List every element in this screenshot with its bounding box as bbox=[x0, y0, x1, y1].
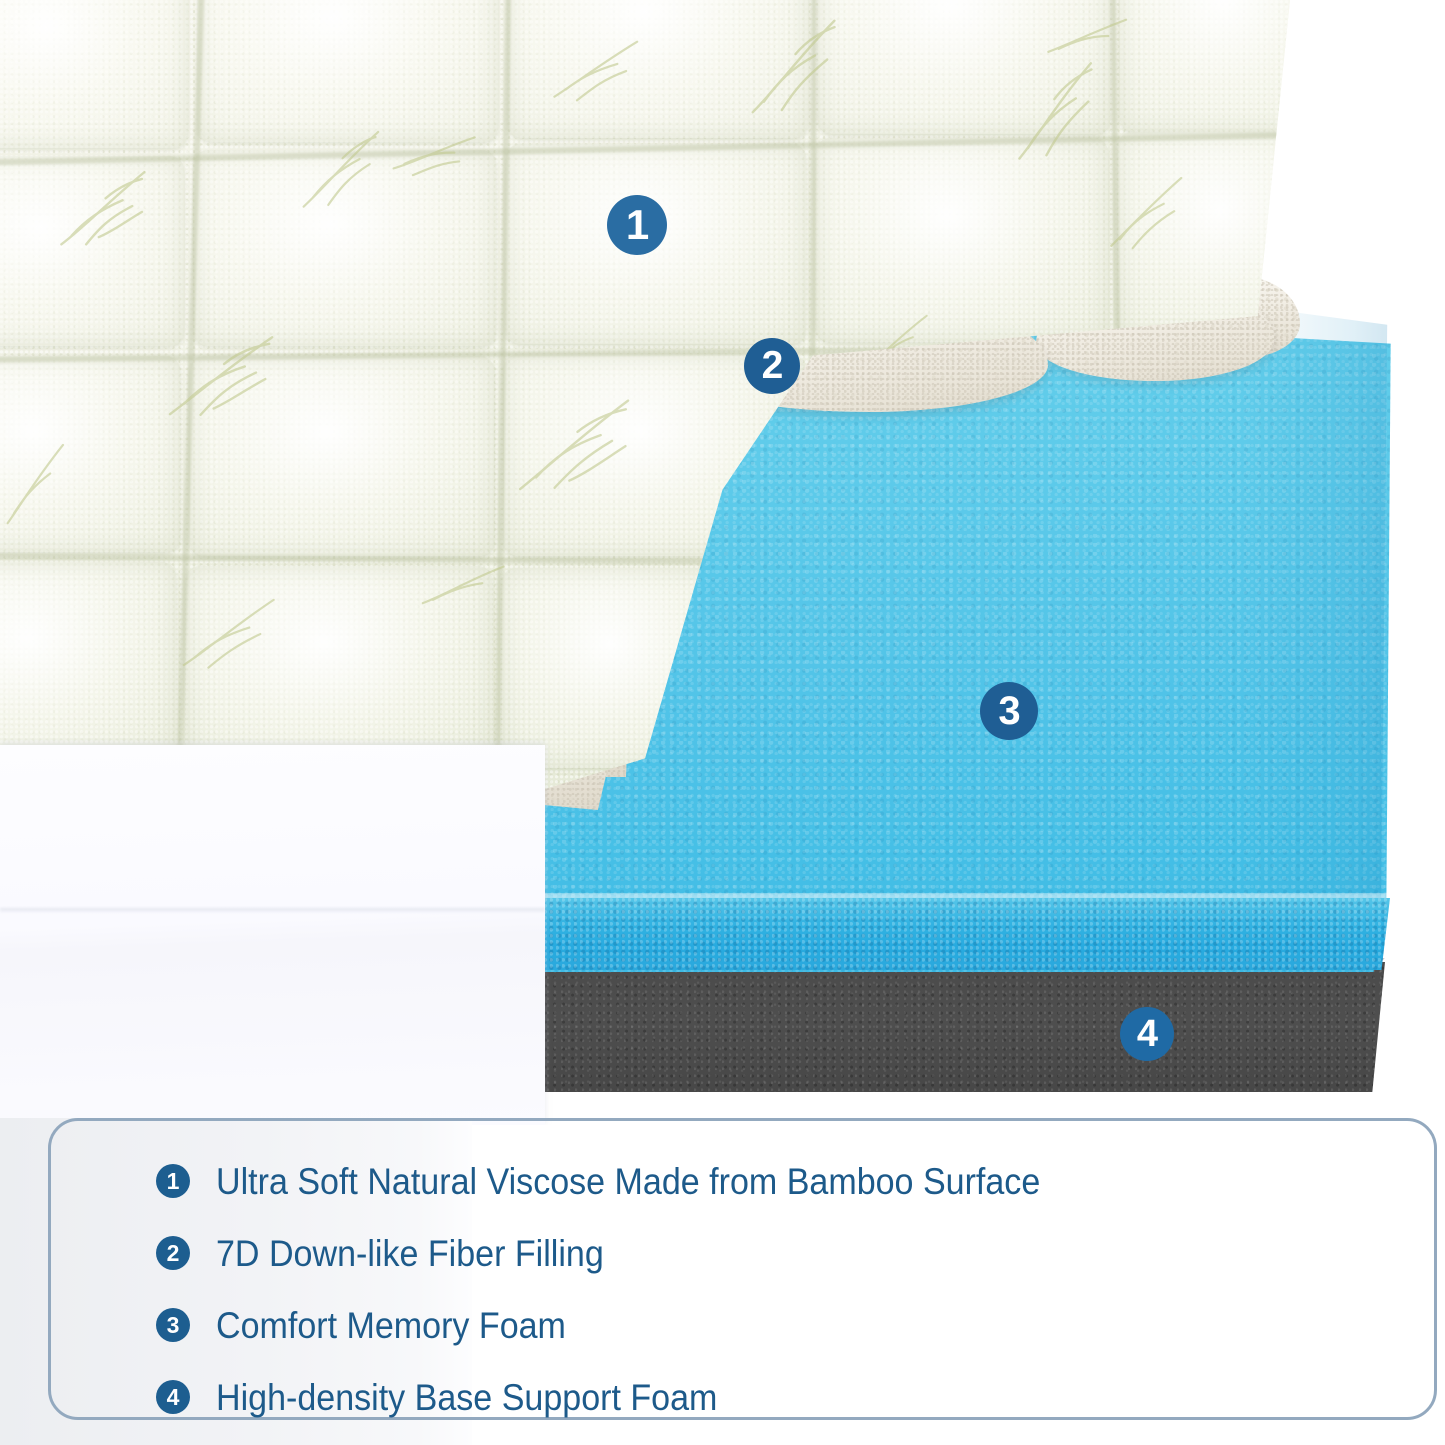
callout-badge-1[interactable]: 1 bbox=[607, 195, 667, 255]
mattress-cutaway-photo: 1 2 3 4 bbox=[0, 0, 1445, 1125]
legend-badge-2-number: 2 bbox=[167, 1242, 180, 1265]
legend-badge-1-number: 1 bbox=[167, 1170, 180, 1193]
bamboo-leaf-icon bbox=[171, 589, 292, 680]
product-infographic: 1 2 3 4 1 Ultra Soft Natural Viscose Mad… bbox=[0, 0, 1445, 1445]
quilt-cell bbox=[1120, 0, 1350, 132]
legend-label-3: Comfort Memory Foam bbox=[216, 1307, 566, 1344]
callout-badge-2-number: 2 bbox=[762, 344, 783, 388]
legend-item-4[interactable]: 4 High-density Base Support Foam bbox=[156, 1363, 1434, 1431]
callout-badge-2[interactable]: 2 bbox=[744, 338, 800, 394]
legend-badge-1: 1 bbox=[156, 1164, 190, 1198]
callout-badge-3-number: 3 bbox=[998, 689, 1019, 734]
bamboo-leaf-icon bbox=[545, 31, 652, 111]
legend-badge-3: 3 bbox=[156, 1308, 190, 1342]
legend-badge-3-number: 3 bbox=[167, 1314, 180, 1337]
bamboo-leaf-icon bbox=[418, 553, 512, 621]
callout-badge-3[interactable]: 3 bbox=[980, 682, 1038, 740]
bamboo-leaf-icon bbox=[386, 116, 484, 192]
bamboo-leaf-icon bbox=[1043, 4, 1135, 73]
memory-foam-cut-edge bbox=[538, 898, 1390, 970]
quilt-cell bbox=[198, 0, 498, 142]
quilt-cell bbox=[0, 562, 176, 762]
legend-list: 1 Ultra Soft Natural Viscose Made from B… bbox=[51, 1121, 1434, 1417]
mattress-side-panel bbox=[0, 745, 545, 1125]
quilt-cell bbox=[816, 138, 1108, 342]
legend-label-4: High-density Base Support Foam bbox=[216, 1379, 717, 1416]
base-support-foam-layer bbox=[540, 962, 1385, 1092]
legend-item-2[interactable]: 2 7D Down-like Fiber Filling bbox=[156, 1219, 1434, 1287]
legend-badge-2: 2 bbox=[156, 1236, 190, 1270]
callout-badge-4-number: 4 bbox=[1137, 1013, 1157, 1056]
legend-panel: 1 Ultra Soft Natural Viscose Made from B… bbox=[48, 1118, 1437, 1420]
legend-badge-4: 4 bbox=[156, 1380, 190, 1414]
legend-label-2: 7D Down-like Fiber Filling bbox=[216, 1235, 604, 1272]
callout-badge-1-number: 1 bbox=[626, 201, 648, 249]
side-panel-crease bbox=[0, 908, 545, 913]
memory-foam-right-shading bbox=[1240, 305, 1400, 965]
callout-badge-4[interactable]: 4 bbox=[1120, 1007, 1174, 1061]
legend-badge-4-number: 4 bbox=[167, 1386, 180, 1409]
quilt-cell bbox=[0, 0, 188, 148]
legend-label-1: Ultra Soft Natural Viscose Made from Bam… bbox=[216, 1163, 1040, 1200]
legend-item-3[interactable]: 3 Comfort Memory Foam bbox=[156, 1291, 1434, 1359]
legend-item-1[interactable]: 1 Ultra Soft Natural Viscose Made from B… bbox=[156, 1147, 1434, 1215]
